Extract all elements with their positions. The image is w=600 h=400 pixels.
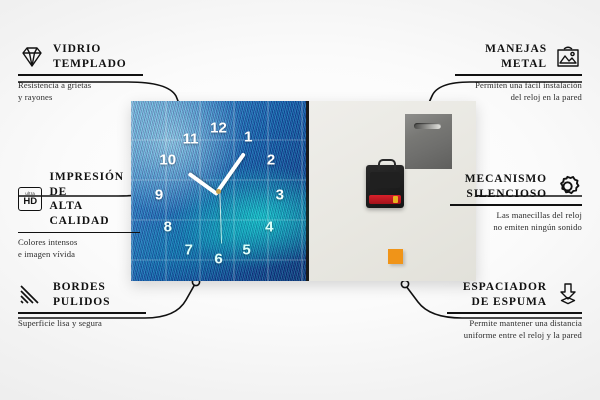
clock-numeral-12: 12 (210, 121, 227, 136)
gear-icon (554, 174, 582, 199)
battery (369, 195, 401, 204)
feature-title-line2: ALTA CALIDAD (49, 199, 140, 228)
clock-numeral-4: 4 (265, 220, 273, 235)
feature-desc-line2: uniforme entre el reloj y la pared (447, 330, 582, 342)
diamond-icon (18, 45, 46, 69)
feature-desc-line1: Superficie lisa y segura (18, 318, 146, 330)
movement-hook (378, 159, 396, 170)
feature-desc-line2: e imagen vívida (18, 249, 140, 261)
clock-numeral-1: 1 (244, 130, 252, 145)
feature-rule (18, 312, 146, 314)
clock-numeral-2: 2 (267, 153, 275, 168)
feature-manejas-metal: MANEJAS METAL Permiten una fácil instala… (455, 42, 582, 104)
clock-center-pivot (216, 189, 221, 194)
clock-numeral-7: 7 (185, 243, 193, 258)
clock-numeral-5: 5 (242, 243, 250, 258)
feature-title-line2: DE ESPUMA (463, 295, 547, 310)
clock-numeral-6: 6 (214, 252, 222, 267)
feature-title-line2: METAL (485, 57, 547, 72)
metal-hanger-plate (405, 114, 452, 169)
feature-desc-line1: Colores intensos (18, 237, 140, 249)
ultra-hd-icon: ultra HD (18, 187, 42, 211)
feature-title-line2: TEMPLADO (53, 57, 127, 72)
clock-numeral-11: 11 (183, 131, 199, 146)
clock-numeral-10: 10 (159, 153, 176, 168)
clock-front-panel: 12 1 2 3 4 5 6 7 8 9 10 11 (131, 101, 309, 281)
feature-desc-line2: no emiten ningún sonido (450, 222, 582, 234)
feature-espaciador-espuma: ESPACIADOR DE ESPUMA Permite mantener un… (447, 280, 582, 342)
feature-impresion-alta-calidad: ultra HD IMPRESIÓN DE ALTA CALIDAD Color… (18, 170, 140, 261)
product-photo: 12 1 2 3 4 5 6 7 8 9 10 11 (131, 101, 476, 281)
feature-desc-line1: Resistencia a grietas (18, 80, 143, 92)
hanger-slot (414, 123, 441, 129)
infographic-canvas: 12 1 2 3 4 5 6 7 8 9 10 11 (0, 0, 600, 400)
feature-title-line1: BORDES (53, 280, 110, 295)
clock-minute-hand (215, 152, 245, 193)
picture-hanger-icon (554, 45, 582, 69)
feature-bordes-pulidos: BORDES PULIDOS Superficie lisa y segura (18, 280, 146, 330)
feature-title-line2: SILENCIOSO (465, 187, 547, 202)
feature-desc-line1: Permite mantener una distancia (447, 318, 582, 330)
feature-desc-line1: Permiten una fácil instalación (455, 80, 582, 92)
feature-title-line1: MECANISMO (465, 172, 547, 187)
feature-desc-line2: del reloj en la pared (455, 92, 582, 104)
feature-desc-line2: y rayones (18, 92, 143, 104)
clock-numeral-9: 9 (155, 187, 163, 202)
clock-numeral-8: 8 (164, 220, 172, 235)
feature-vidrio-templado: VIDRIO TEMPLADO Resistencia a grietas y … (18, 42, 143, 104)
feature-mecanismo-silencioso: MECANISMO SILENCIOSO Las manecillas del … (450, 172, 582, 234)
quartz-movement (366, 165, 404, 208)
feature-rule (447, 312, 582, 314)
feature-desc-line1: Las manecillas del reloj (450, 210, 582, 222)
feature-title-line1: MANEJAS (485, 42, 547, 57)
clock-second-hand (219, 192, 222, 244)
feature-title-line1: IMPRESIÓN DE (49, 170, 140, 199)
movement-body (370, 172, 400, 188)
feature-title-line2: PULIDOS (53, 295, 110, 310)
feature-title-line1: ESPACIADOR (463, 280, 547, 295)
connector-dot-espaciador (401, 280, 408, 287)
feature-rule (18, 74, 143, 76)
feature-rule (455, 74, 582, 76)
clock-hour-hand (187, 172, 218, 196)
polished-edges-icon (18, 283, 46, 307)
ultra-hd-big-text: HD (23, 197, 37, 207)
feature-rule (18, 232, 140, 234)
feature-rule (450, 204, 582, 206)
clock-numeral-3: 3 (276, 187, 284, 202)
feature-title-line1: VIDRIO (53, 42, 127, 57)
foam-spacer (388, 249, 403, 264)
foam-spacer-arrow-icon (554, 282, 582, 307)
